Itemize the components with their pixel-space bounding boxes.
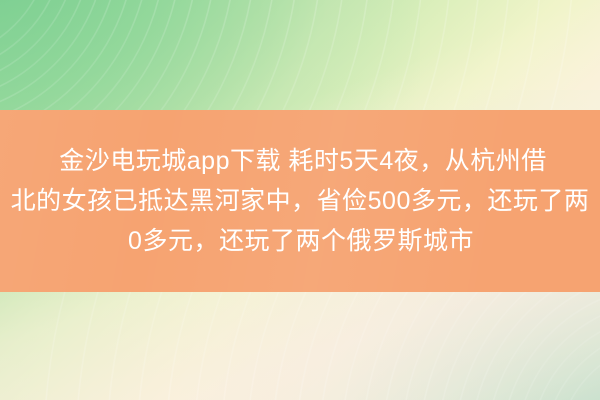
banner-text-line-2: 北的女孩已抵达黑河家中，省俭500多元，还玩了两 bbox=[11, 181, 590, 221]
banner-text-line-1: 金沙电玩城app下载 耗时5天4夜，从杭州借 bbox=[59, 141, 546, 181]
banner-canvas: 金沙电玩城app下载 耗时5天4夜，从杭州借 北的女孩已抵达黑河家中，省俭500… bbox=[0, 0, 600, 400]
banner-text-line-3: 0多元，还玩了两个俄罗斯城市 bbox=[128, 221, 474, 261]
banner-text-block: 金沙电玩城app下载 耗时5天4夜，从杭州借 北的女孩已抵达黑河家中，省俭500… bbox=[0, 110, 600, 292]
